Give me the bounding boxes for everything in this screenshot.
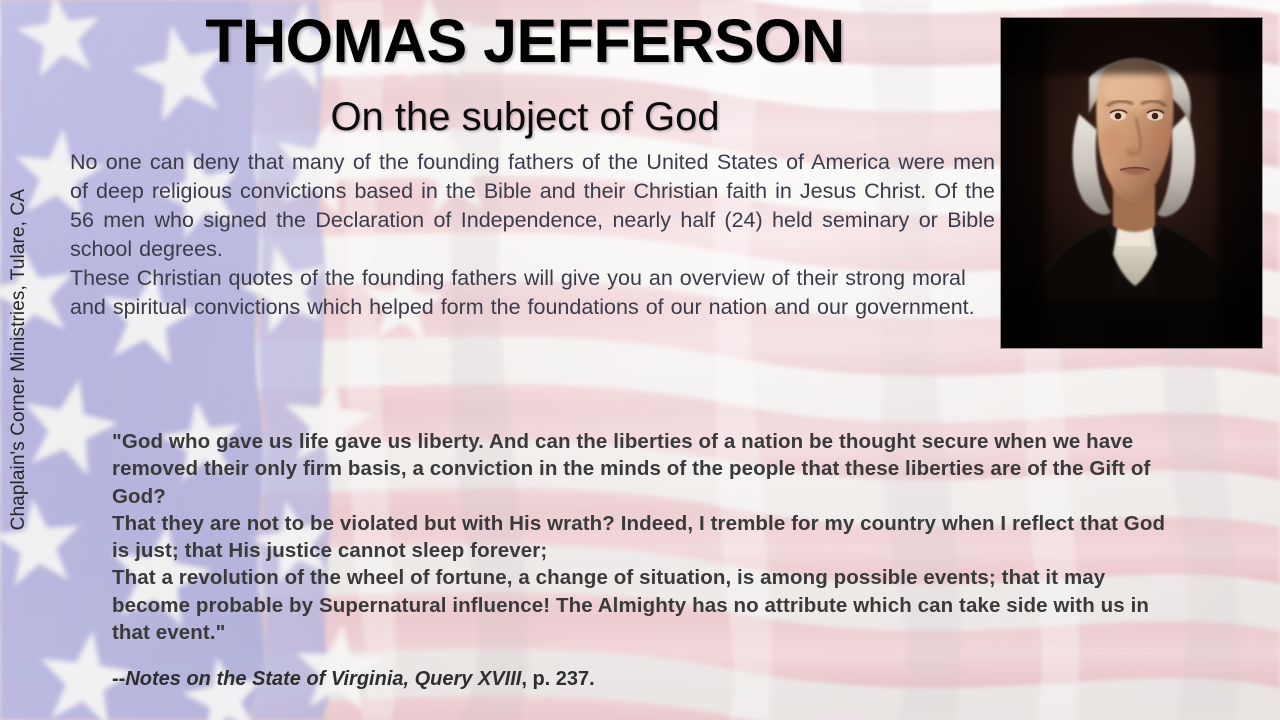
quote-paragraph-2: That they are not to be violated but wit… bbox=[112, 510, 1177, 565]
quote-paragraph-1: "God who gave us life gave us liberty. A… bbox=[112, 428, 1177, 510]
citation-source: Notes on the State of Virginia, Query XV… bbox=[125, 668, 521, 690]
page-title: THOMAS JEFFERSON bbox=[60, 11, 990, 72]
citation-page: , p. 237 bbox=[521, 668, 589, 690]
quote-block: "God who gave us life gave us liberty. A… bbox=[112, 428, 1177, 646]
intro-text-block: No one can deny that many of the foundin… bbox=[70, 148, 995, 322]
citation-period: . bbox=[589, 668, 595, 690]
slide-canvas: Chaplain's Corner Ministries, Tulare, CA… bbox=[0, 0, 1280, 720]
ministry-credit-label: Chaplain's Corner Ministries, Tulare, CA bbox=[8, 189, 30, 530]
thomas-jefferson-portrait bbox=[1001, 18, 1262, 348]
intro-paragraph-1: No one can deny that many of the foundin… bbox=[70, 148, 995, 264]
quote-citation: --Notes on the State of Virginia, Query … bbox=[112, 668, 1012, 691]
quote-paragraph-3: That a revolution of the wheel of fortun… bbox=[112, 564, 1177, 646]
page-subtitle: On the subject of God bbox=[60, 97, 990, 137]
ministry-credit: Chaplain's Corner Ministries, Tulare, CA bbox=[2, 0, 36, 720]
citation-dash: -- bbox=[112, 668, 125, 690]
intro-paragraph-2: These Christian quotes of the founding f… bbox=[70, 264, 995, 322]
